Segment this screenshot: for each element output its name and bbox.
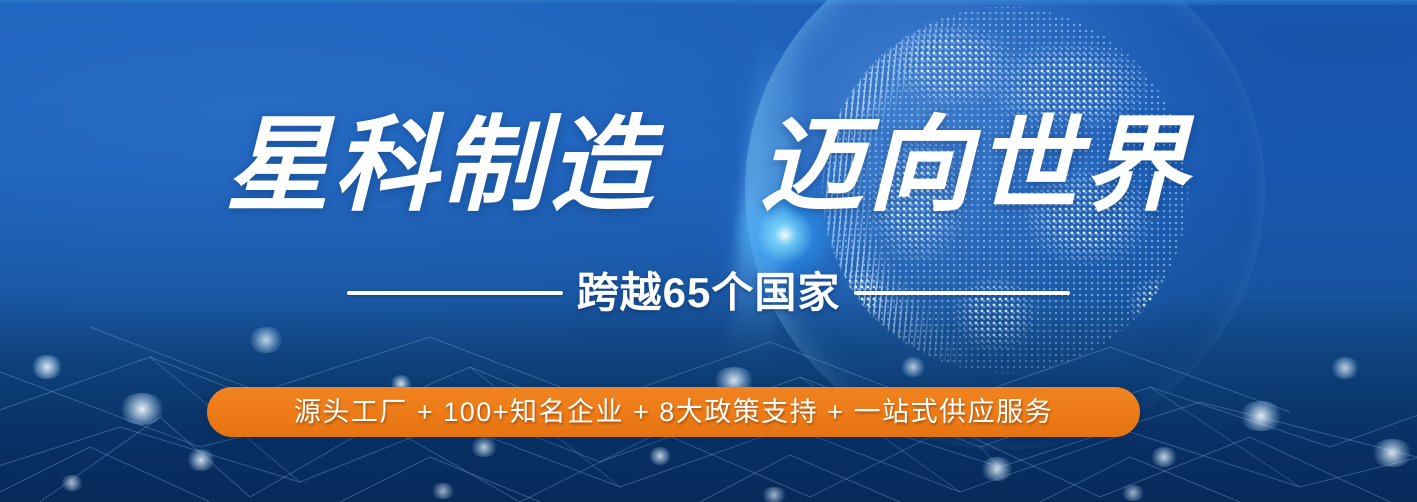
headline-part-1: 星科制造 <box>225 109 657 224</box>
banner-content: 星科制造 迈向世界 跨越65个国家 源头工厂 + 100+知名企业 + 8大政策… <box>0 0 1417 502</box>
promo-banner: 星科制造 迈向世界 跨越65个国家 源头工厂 + 100+知名企业 + 8大政策… <box>0 0 1417 502</box>
divider-rule-right <box>854 291 1070 295</box>
headline: 星科制造 迈向世界 <box>0 112 1417 222</box>
features-pill[interactable]: 源头工厂 + 100+知名企业 + 8大政策支持 + 一站式供应服务 <box>207 387 1140 437</box>
divider-rule-left <box>347 291 563 295</box>
subtitle-row: 跨越65个国家 <box>0 268 1417 318</box>
headline-part-2: 迈向世界 <box>760 109 1192 224</box>
features-pill-label: 源头工厂 + 100+知名企业 + 8大政策支持 + 一站式供应服务 <box>294 395 1053 429</box>
subtitle: 跨越65个国家 <box>577 268 841 318</box>
